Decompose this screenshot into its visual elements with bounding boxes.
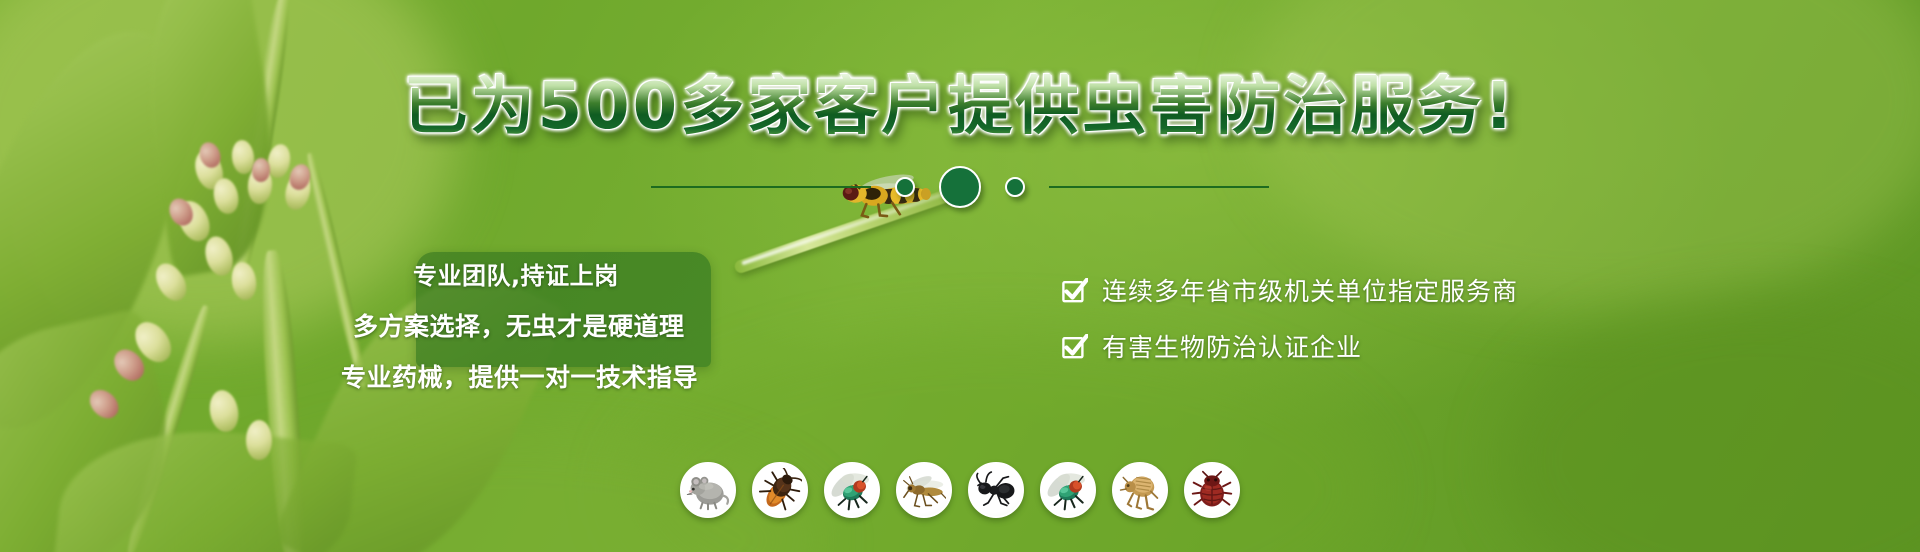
checkbox-checked-icon bbox=[1062, 278, 1088, 303]
divider-dot-large bbox=[939, 166, 981, 208]
credential-label: 有害生物防治认证企业 bbox=[1102, 328, 1362, 364]
pest-type-icon-row bbox=[680, 462, 1240, 518]
divider-rule-left bbox=[651, 186, 871, 188]
pest-icon-blowfly[interactable] bbox=[1040, 462, 1096, 518]
pest-icon-cockroach[interactable] bbox=[752, 462, 808, 518]
pest-icon-bedbug[interactable] bbox=[1184, 462, 1240, 518]
divider-rule-right bbox=[1049, 186, 1269, 188]
pest-icon-ant[interactable] bbox=[968, 462, 1024, 518]
pest-icon-mosquito[interactable] bbox=[896, 462, 952, 518]
credentials-checklist: 连续多年省市级机关单位指定服务商 有害生物防治认证企业 bbox=[1062, 272, 1622, 384]
pest-control-hero-banner: 已为500多家客户提供虫害防治服务! 专业团队,持证上岗 多方案选择，无虫才是硬… bbox=[0, 0, 1920, 552]
pest-icon-flea[interactable] bbox=[1112, 462, 1168, 518]
decorative-divider bbox=[0, 160, 1920, 214]
list-item: 连续多年省市级机关单位指定服务商 bbox=[1062, 272, 1622, 308]
pest-icon-mouse[interactable] bbox=[680, 462, 736, 518]
pest-icon-fly[interactable] bbox=[824, 462, 880, 518]
list-item: 有害生物防治认证企业 bbox=[1062, 328, 1622, 364]
divider-dot-small-left bbox=[895, 177, 915, 197]
page-title: 已为500多家客户提供虫害防治服务! bbox=[0, 74, 1920, 140]
divider-dot-small-right bbox=[1005, 177, 1025, 197]
credential-label: 连续多年省市级机关单位指定服务商 bbox=[1102, 272, 1518, 308]
checkbox-checked-icon bbox=[1062, 334, 1088, 359]
background-blur-blob bbox=[1250, 0, 1920, 310]
